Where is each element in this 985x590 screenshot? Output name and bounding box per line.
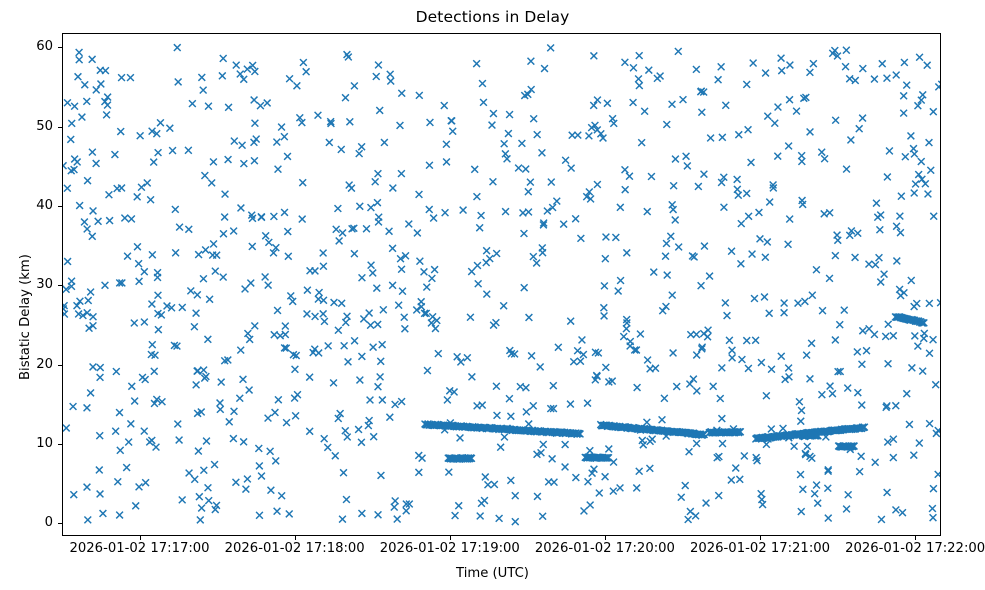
x-tick-mark	[450, 536, 451, 540]
x-tick-mark	[760, 536, 761, 540]
scatter-layer	[63, 34, 941, 536]
x-tick-label: 2026-01-02 17:22:00	[845, 541, 985, 556]
y-tick-label: 50	[13, 119, 53, 134]
y-tick-label: 40	[13, 198, 53, 213]
y-tick-label: 30	[13, 277, 53, 292]
clutter-points	[63, 44, 941, 525]
figure-canvas: Detections in Delay Bistatic Delay (km) …	[0, 0, 985, 590]
plot-area	[62, 33, 941, 536]
y-axis-ticks: 0102030405060	[0, 0, 53, 590]
x-tick-label: 2026-01-02 17:18:00	[225, 541, 365, 556]
x-tick-mark	[140, 536, 141, 540]
x-tick-mark	[605, 536, 606, 540]
chart-title: Detections in Delay	[0, 8, 985, 26]
y-tick-label: 10	[13, 436, 53, 451]
y-tick-label: 20	[13, 357, 53, 372]
x-tick-mark	[915, 536, 916, 540]
x-axis-label: Time (UTC)	[0, 566, 985, 581]
x-tick-label: 2026-01-02 17:17:00	[70, 541, 210, 556]
x-tick-label: 2026-01-02 17:20:00	[535, 541, 675, 556]
y-tick-label: 0	[13, 515, 53, 530]
y-tick-label: 60	[13, 39, 53, 54]
x-tick-label: 2026-01-02 17:19:00	[380, 541, 520, 556]
x-tick-label: 2026-01-02 17:21:00	[690, 541, 830, 556]
x-tick-mark	[295, 536, 296, 540]
